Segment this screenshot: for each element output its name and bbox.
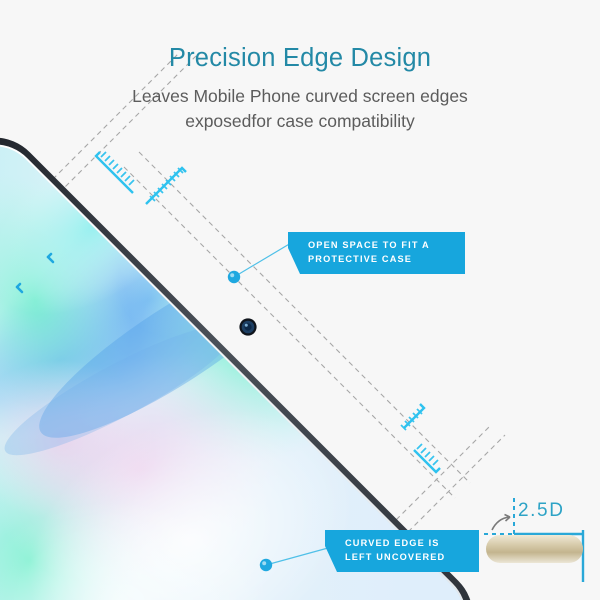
callout-open-space-line-1: OPEN SPACE TO FIT A <box>308 239 453 253</box>
page-title: Precision Edge Design <box>0 0 600 73</box>
callout-curved-edge: CURVED EDGE IS LEFT UNCOVERED <box>325 530 479 572</box>
callout-leader-open-space <box>228 243 291 283</box>
page-subtitle: Leaves Mobile Phone curved screen edges … <box>0 73 600 134</box>
edge-tick-marks-bottom-right <box>401 404 440 472</box>
camera-punch-hole <box>239 318 256 335</box>
callout-open-space-line-2: PROTECTIVE CASE <box>308 253 453 267</box>
phone-wallpaper <box>0 77 530 600</box>
callout-curved-edge-line-2: LEFT UNCOVERED <box>345 551 467 565</box>
callout-open-space: OPEN SPACE TO FIT A PROTECTIVE CASE <box>288 232 465 274</box>
edge-tick-marks-top-left <box>96 152 186 204</box>
product-feature-image: Precision Edge Design Leaves Mobile Phon… <box>0 0 600 600</box>
callout-curved-edge-line-1: CURVED EDGE IS <box>345 537 467 551</box>
glass-edge-bar <box>486 535 583 563</box>
edge-diagram-label: 2.5D <box>518 500 565 522</box>
subtitle-line-2: exposedfor case compatibility <box>0 109 600 134</box>
subtitle-line-1: Leaves Mobile Phone curved screen edges <box>0 84 600 109</box>
header: Precision Edge Design Leaves Mobile Phon… <box>0 0 600 134</box>
edge-diagram-2-5d: 2.5D <box>484 494 600 586</box>
